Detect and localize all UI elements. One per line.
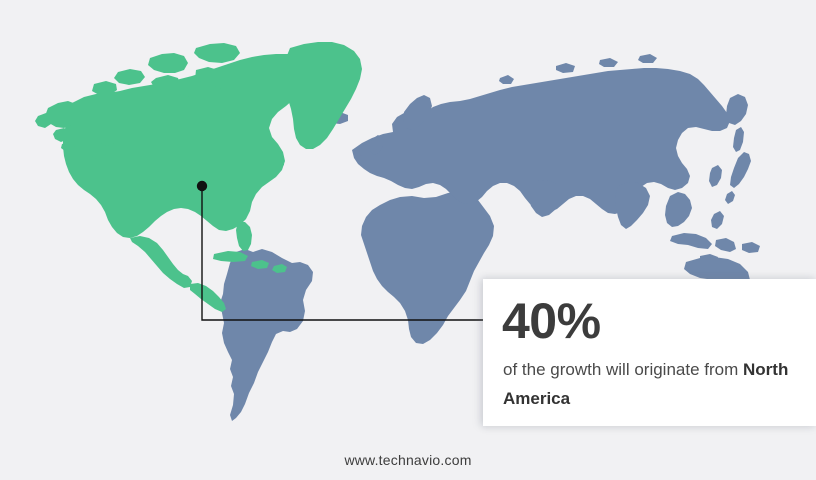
footer: www.technavio.com	[0, 440, 816, 480]
callout-card: 40% of the growth will originate from No…	[483, 279, 816, 426]
callout-body-prefix: of the growth will originate from	[503, 360, 743, 379]
callout-body: of the growth will originate from North …	[503, 355, 793, 413]
callout-headline: 40%	[502, 293, 796, 349]
infographic-page: 40% of the growth will originate from No…	[0, 0, 816, 480]
footer-url: www.technavio.com	[344, 452, 471, 468]
